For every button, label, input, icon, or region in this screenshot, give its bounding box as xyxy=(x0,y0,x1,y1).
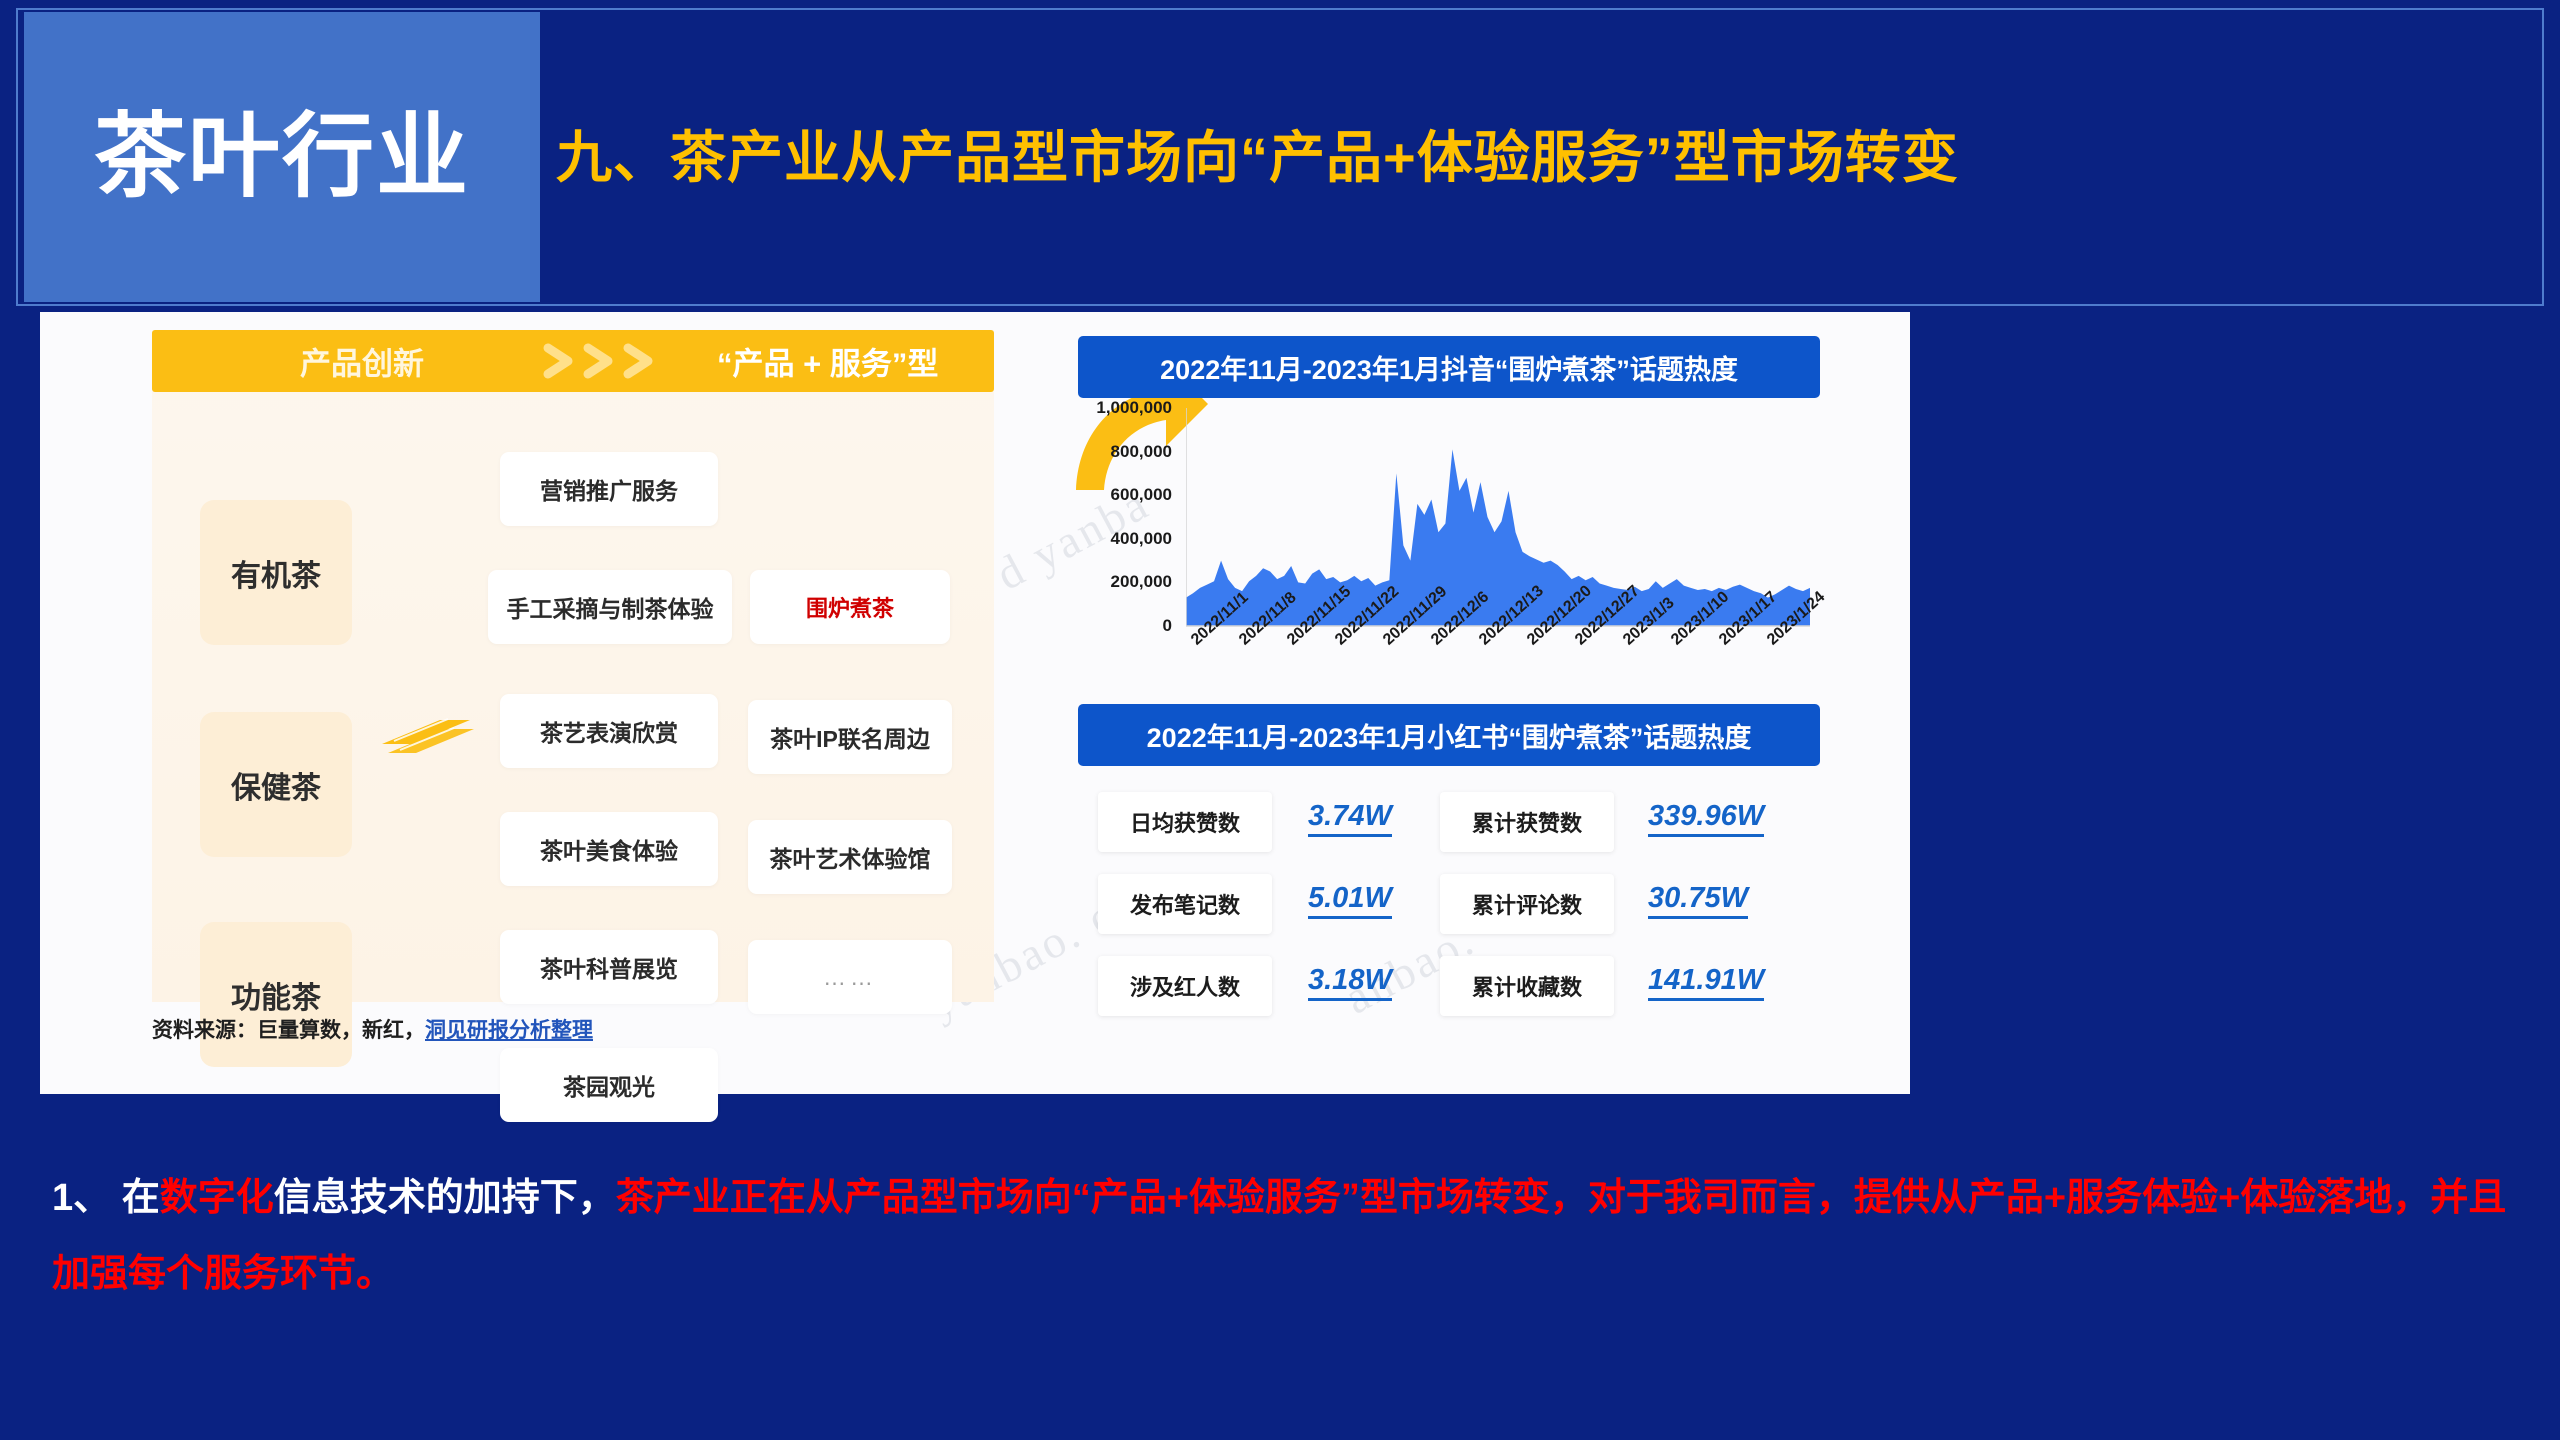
stat-card-label: 发布笔记数 xyxy=(1098,874,1272,934)
page-title: 九、茶产业从产品型市场向“产品+体验服务”型市场转变 xyxy=(556,0,1959,306)
y-tick-label: 200,000 xyxy=(1111,572,1172,592)
service-box: 茶叶科普展览 xyxy=(500,930,718,1004)
header-industry-tag-label: 茶叶行业 xyxy=(94,111,470,203)
stat-value: 141.91W xyxy=(1648,964,1764,1001)
stat-card-label: 累计收藏数 xyxy=(1440,956,1614,1016)
service-label: 茶叶科普展览 xyxy=(540,950,678,984)
service-box: 茶叶美食体验 xyxy=(500,812,718,886)
y-tick-label: 1,000,000 xyxy=(1096,398,1172,418)
summary-note: 1、 在数字化信息技术的加持下，茶产业正在从产品型市场向“产品+体验服务”型市场… xyxy=(52,1160,2512,1312)
category-label: 有机茶 xyxy=(231,551,321,595)
service-box: 茶艺表演欣赏 xyxy=(500,694,718,768)
innovation-banner-left-label: 产品创新 xyxy=(300,339,424,384)
service-label: 茶艺表演欣赏 xyxy=(540,714,678,748)
slide-root: 茶叶行业 九、茶产业从产品型市场向“产品+体验服务”型市场转变 d yanbao… xyxy=(0,0,2560,1440)
service-label: 茶叶美食体验 xyxy=(540,832,678,866)
service-box: 手工采摘与制茶体验 xyxy=(488,570,732,644)
page-title-label: 九、茶产业从产品型市场向“产品+体验服务”型市场转变 xyxy=(556,113,1959,194)
stat-label: 发布笔记数 xyxy=(1130,888,1240,920)
y-tick-label: 0 xyxy=(1163,616,1172,636)
stat-label: 日均获赞数 xyxy=(1130,806,1240,838)
service-box: 茶叶艺术体验馆 xyxy=(748,820,952,894)
service-label: 手工采摘与制茶体验 xyxy=(507,590,714,624)
stat-card-label: 累计获赞数 xyxy=(1440,792,1614,852)
note-white-1: 信息技术的加持下， xyxy=(274,1177,616,1219)
xiaohongshu-stats-title-label: 2022年11月-2023年1月小红书“围炉煮茶”话题热度 xyxy=(1147,716,1752,755)
stat-value: 339.96W xyxy=(1648,800,1764,837)
douyin-heat-chart: 0 200,000 400,000 600,000 800,000 1,000,… xyxy=(1078,408,1820,698)
innovation-banner-right-label: “产品 + 服务”型 xyxy=(717,339,938,384)
stat-card-label: 累计评论数 xyxy=(1440,874,1614,934)
left-diagram-panel xyxy=(152,330,994,1002)
stat-label: 累计收藏数 xyxy=(1472,970,1582,1002)
stat-label: 累计获赞数 xyxy=(1472,806,1582,838)
triple-chevron-right-icon xyxy=(540,340,668,382)
content-card: d yanbao. yanbao. c d yanba anbao. 产品创新 … xyxy=(40,312,1910,1094)
note-red-1: 数字化 xyxy=(160,1177,274,1219)
source-link[interactable]: 洞见研报分析整理 xyxy=(425,1019,593,1042)
stat-value: 30.75W xyxy=(1648,882,1748,919)
service-label: 茶叶艺术体验馆 xyxy=(770,840,931,874)
service-label: 营销推广服务 xyxy=(540,472,678,506)
category-box-health: 保健茶 xyxy=(200,712,352,857)
stat-value: 3.18W xyxy=(1308,964,1392,1001)
y-tick-label: 600,000 xyxy=(1111,485,1172,505)
douyin-chart-title-label: 2022年11月-2023年1月抖音“围炉煮茶”话题热度 xyxy=(1160,348,1738,387)
service-box: 茶叶IP联名周边 xyxy=(748,700,952,774)
category-label: 保健茶 xyxy=(231,763,321,807)
service-box-highlight: 围炉煮茶 xyxy=(750,570,950,644)
stat-value: 5.01W xyxy=(1308,882,1392,919)
category-box-organic: 有机茶 xyxy=(200,500,352,645)
category-box-functional: 功能茶 xyxy=(200,922,352,1067)
stat-label: 涉及红人数 xyxy=(1130,970,1240,1002)
service-box: 茶园观光 xyxy=(500,1048,718,1122)
source-line: 资料来源：巨量算数，新红，洞见研报分析整理 xyxy=(152,1014,593,1044)
douyin-chart-title: 2022年11月-2023年1月抖音“围炉煮茶”话题热度 xyxy=(1078,336,1820,398)
connector-arrow-icon xyxy=(378,704,474,765)
note-index: 1、 在 xyxy=(52,1177,160,1219)
service-box: 营销推广服务 xyxy=(500,452,718,526)
xiaohongshu-stats-title: 2022年11月-2023年1月小红书“围炉煮茶”话题热度 xyxy=(1078,704,1820,766)
y-tick-label: 800,000 xyxy=(1111,442,1172,462)
y-tick-label: 400,000 xyxy=(1111,529,1172,549)
service-label: 茶园观光 xyxy=(563,1068,655,1102)
innovation-banner: 产品创新 “产品 + 服务”型 xyxy=(152,330,994,392)
stat-card-label: 日均获赞数 xyxy=(1098,792,1272,852)
stat-label: 累计评论数 xyxy=(1472,888,1582,920)
chart-x-axis: 2022/11/12022/11/82022/11/152022/11/2220… xyxy=(1186,636,1810,696)
category-label: 功能茶 xyxy=(231,973,321,1017)
header-industry-tag: 茶叶行业 xyxy=(24,12,540,302)
source-prefix: 资料来源：巨量算数，新红， xyxy=(152,1019,425,1042)
service-label: 围炉煮茶 xyxy=(806,591,894,623)
service-label: 茶叶IP联名周边 xyxy=(770,720,930,754)
service-label: …… xyxy=(823,964,877,991)
stat-card-label: 涉及红人数 xyxy=(1098,956,1272,1016)
stat-value: 3.74W xyxy=(1308,800,1392,837)
service-box-ellipsis: …… xyxy=(748,940,952,1014)
